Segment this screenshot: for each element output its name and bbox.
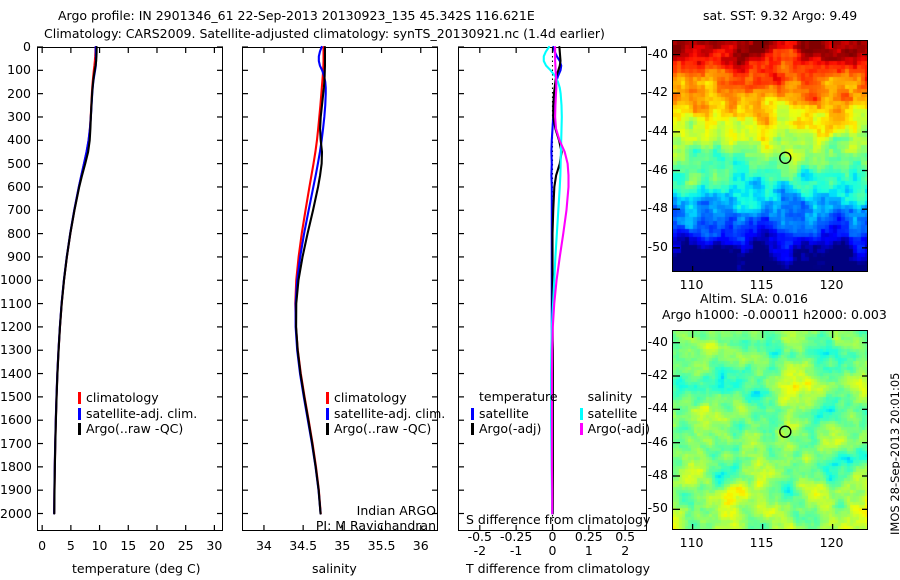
legend-item-2: Argo(..raw -QC): [78, 420, 197, 436]
temperature-tick-30: 30: [200, 538, 228, 553]
figure-title-line2: Climatology: CARS2009. Satellite-adjuste…: [44, 26, 605, 41]
sst-ytick--44: -44: [642, 123, 668, 138]
temperature-diff-tick-1: 1: [573, 543, 605, 558]
depth-tick-100: 100: [0, 62, 31, 77]
depth-tick-500: 500: [0, 156, 31, 171]
legend-label: Argo(..raw -QC): [86, 421, 183, 436]
legend-item-0-0: satellite: [471, 405, 558, 421]
depth-tick-900: 900: [0, 249, 31, 264]
sla-ytick--40: -40: [642, 334, 668, 349]
depth-tick-1400: 1400: [0, 366, 31, 381]
salinity-tick-35: 35: [322, 538, 362, 553]
legend-item-1: satellite-adj. clim.: [326, 405, 445, 421]
depth-tick-600: 600: [0, 179, 31, 194]
legend-swatch-icon: [471, 408, 474, 420]
difference-profile-panel: [458, 47, 647, 531]
legend-heading: temperature: [471, 389, 558, 405]
depth-tick-1500: 1500: [0, 389, 31, 404]
sla-ytick--48: -48: [642, 467, 668, 482]
sst-xtick-120: 120: [812, 277, 852, 292]
depth-tick-1300: 1300: [0, 342, 31, 357]
sla-map[interactable]: [672, 330, 868, 530]
salinity-diff-tick-0.5: 0.5: [601, 529, 649, 544]
salinity-tick-34.5: 34.5: [283, 538, 323, 553]
depth-tick-1700: 1700: [0, 436, 31, 451]
salinity-legend: climatologysatellite-adj. clim.Argo(..ra…: [326, 389, 445, 436]
depth-tick-1100: 1100: [0, 296, 31, 311]
legend-swatch-icon: [326, 423, 329, 435]
legend-item-0-1: Argo(-adj): [471, 420, 558, 436]
salinity-tick-36: 36: [401, 538, 441, 553]
sla-map-title-line2: Argo h1000: -0.00011 h2000: 0.003: [662, 307, 887, 322]
legend-item-2: Argo(..raw -QC): [326, 420, 445, 436]
depth-tick-1600: 1600: [0, 412, 31, 427]
figure-title-line1: Argo profile: IN 2901346_61 22-Sep-2013 …: [58, 8, 535, 23]
sst-ytick--48: -48: [642, 200, 668, 215]
legend-swatch-icon: [78, 392, 81, 404]
legend-item-1-0: satellite: [580, 405, 650, 421]
depth-tick-200: 200: [0, 86, 31, 101]
salinity-profile-panel: [242, 47, 438, 531]
sla-ytick--44: -44: [642, 400, 668, 415]
depth-tick-1200: 1200: [0, 319, 31, 334]
depth-tick-1000: 1000: [0, 272, 31, 287]
argo-program-label: Indian ARGO: [258, 503, 436, 518]
legend-item-1-1: Argo(-adj): [580, 420, 650, 436]
legend-label: satellite-adj. clim.: [86, 406, 197, 421]
sst-map[interactable]: [672, 40, 868, 272]
sla-xtick-115: 115: [742, 535, 782, 550]
temperature-diff-tick-2: 2: [609, 543, 641, 558]
sla-ytick--50: -50: [642, 500, 668, 515]
temperature-legend: climatologysatellite-adj. clim.Argo(..ra…: [78, 389, 197, 436]
temperature-xaxis-label: temperature (deg C): [72, 561, 201, 576]
temperature-difference-axis-label: T difference from climatology: [466, 561, 650, 576]
temperature-diff-tick-0: 0: [537, 543, 569, 558]
legend-heading: salinity: [580, 389, 650, 405]
legend-swatch-icon: [326, 392, 329, 404]
temperature-diff-tick--1: -1: [500, 543, 532, 558]
salinity-difference-axis-label: S difference from climatology: [466, 512, 650, 527]
depth-tick-800: 800: [0, 226, 31, 241]
depth-tick-300: 300: [0, 109, 31, 124]
sla-xtick-110: 110: [672, 535, 712, 550]
sst-xtick-110: 110: [672, 277, 712, 292]
legend-swatch-icon: [580, 423, 583, 435]
temperature-tick-25: 25: [172, 538, 200, 553]
sst-ytick--46: -46: [642, 162, 668, 177]
temperature-diff-tick--2: -2: [464, 543, 496, 558]
legend-label: Argo(-adj): [479, 421, 541, 436]
depth-tick-1800: 1800: [0, 459, 31, 474]
legend-label: Argo(..raw -QC): [334, 421, 431, 436]
legend-item-0: climatology: [78, 389, 197, 405]
depth-tick-700: 700: [0, 202, 31, 217]
sst-xtick-115: 115: [742, 277, 782, 292]
legend-swatch-icon: [326, 408, 329, 420]
legend-group-1: salinitysatelliteArgo(-adj): [580, 389, 650, 436]
temperature-tick-15: 15: [114, 538, 142, 553]
legend-label: Argo(-adj): [588, 421, 650, 436]
temperature-tick-5: 5: [57, 538, 85, 553]
sla-xtick-120: 120: [812, 535, 852, 550]
temperature-profile-panel: [37, 47, 223, 531]
sst-ytick--40: -40: [642, 46, 668, 61]
depth-tick-0: 0: [0, 39, 31, 54]
depth-tick-1900: 1900: [0, 482, 31, 497]
salinity-tick-34: 34: [244, 538, 284, 553]
legend-label: climatology: [334, 390, 407, 405]
difference-legend: temperaturesatelliteArgo(-adj)salinitysa…: [471, 389, 647, 436]
legend-swatch-icon: [471, 423, 474, 435]
legend-swatch-icon: [580, 408, 583, 420]
imos-timestamp: IMOS 28-Sep-2013 20:01:05: [888, 535, 900, 549]
legend-item-1: satellite-adj. clim.: [78, 405, 197, 421]
legend-group-0: temperaturesatelliteArgo(-adj): [471, 389, 558, 436]
sla-ytick--46: -46: [642, 434, 668, 449]
legend-label: climatology: [86, 390, 159, 405]
sla-map-title-line1: Altim. SLA: 0.016: [700, 291, 808, 306]
sst-ytick--42: -42: [642, 84, 668, 99]
depth-tick-2000: 2000: [0, 506, 31, 521]
depth-tick-400: 400: [0, 132, 31, 147]
legend-swatch-icon: [78, 408, 81, 420]
legend-label: satellite: [479, 406, 529, 421]
temperature-tick-20: 20: [143, 538, 171, 553]
argo-pi-label: PI: M Ravichandran: [258, 518, 436, 533]
temperature-tick-10: 10: [86, 538, 114, 553]
salinity-xaxis-label: salinity: [312, 561, 357, 576]
legend-swatch-icon: [78, 423, 81, 435]
sst-map-title: sat. SST: 9.32 Argo: 9.49: [703, 8, 857, 23]
legend-label: satellite-adj. clim.: [334, 406, 445, 421]
salinity-tick-35.5: 35.5: [362, 538, 402, 553]
sst-ytick--50: -50: [642, 239, 668, 254]
legend-item-0: climatology: [326, 389, 445, 405]
legend-label: satellite: [588, 406, 638, 421]
sla-ytick--42: -42: [642, 367, 668, 382]
temperature-tick-0: 0: [28, 538, 56, 553]
